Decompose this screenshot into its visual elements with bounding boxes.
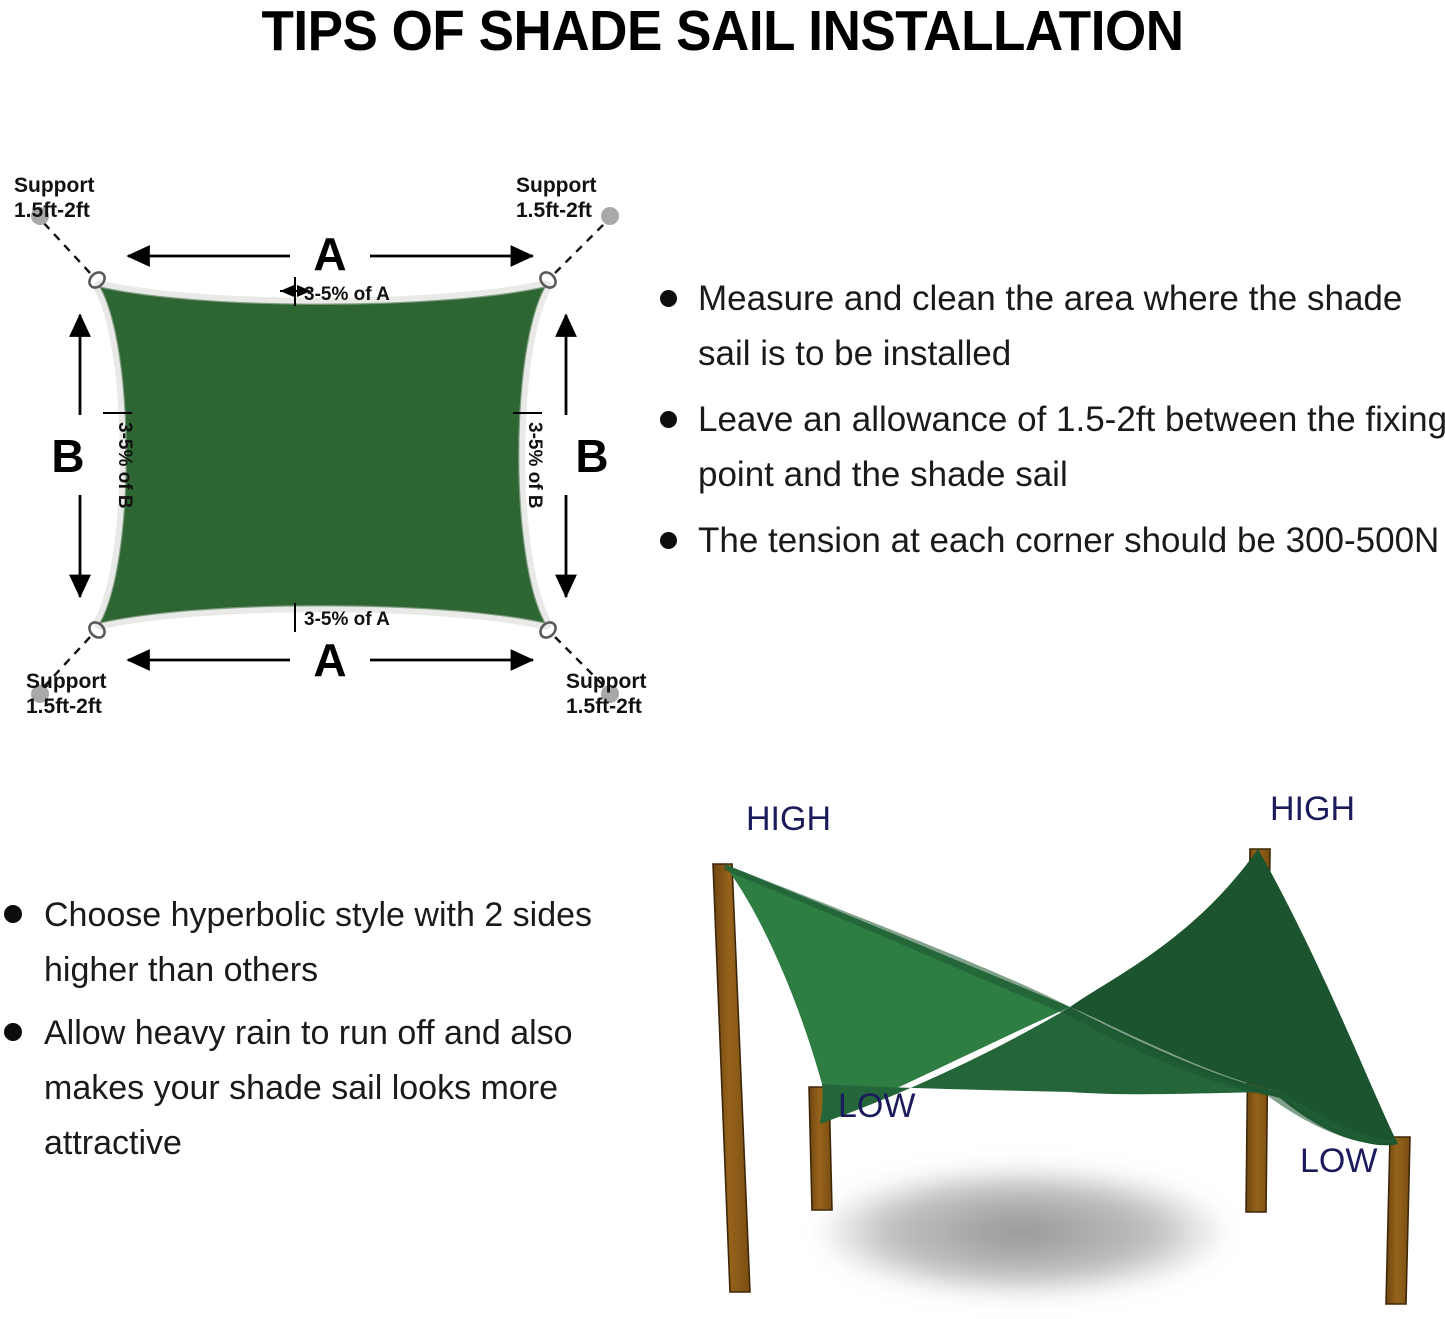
support-label-line2: 1.5ft-2ft xyxy=(26,695,102,718)
pole-low-right xyxy=(1386,1137,1410,1304)
label-high-right: HIGH xyxy=(1270,792,1355,828)
bullet-icon xyxy=(4,1023,22,1041)
list-item-text: Measure and clean the area where the sha… xyxy=(698,279,1402,373)
support-label-line1: Support xyxy=(566,670,646,693)
bullet-icon xyxy=(660,411,677,428)
tips-list: Measure and clean the area where the sha… xyxy=(650,272,1445,569)
curve-label-right: 3-5% of B xyxy=(524,422,545,509)
support-label-line1: Support xyxy=(14,174,94,197)
dimension-label-a-bottom: A xyxy=(313,634,346,686)
list-item: Allow heavy rain to run off and also mak… xyxy=(0,1006,620,1171)
list-item: Choose hyperbolic style with 2 sides hig… xyxy=(0,888,620,998)
dimension-label-b-left: B xyxy=(51,430,84,482)
list-item-text: Allow heavy rain to run off and also mak… xyxy=(44,1014,573,1162)
label-low-right: LOW xyxy=(1300,1142,1377,1180)
sail-panel-rear xyxy=(1070,849,1398,1145)
ground-shadow xyxy=(822,1168,1222,1296)
curve-label-top: 3-5% of A xyxy=(304,284,390,305)
shade-sail-shape xyxy=(100,287,545,623)
list-item: Leave an allowance of 1.5-2ft between th… xyxy=(650,393,1445,503)
support-label-top-left: Support 1.5ft-2ft xyxy=(14,174,94,222)
support-label-line2: 1.5ft-2ft xyxy=(566,695,642,718)
list-item-text: Choose hyperbolic style with 2 sides hig… xyxy=(44,896,592,989)
curve-label-bottom: 3-5% of A xyxy=(304,609,390,630)
list-item: Measure and clean the area where the sha… xyxy=(650,272,1445,382)
list-item: The tension at each corner should be 300… xyxy=(650,514,1445,569)
support-label-top-right: Support 1.5ft-2ft xyxy=(516,174,596,222)
support-label-line2: 1.5ft-2ft xyxy=(516,199,592,222)
bullet-icon xyxy=(4,905,22,923)
list-item-text: Leave an allowance of 1.5-2ft between th… xyxy=(698,400,1445,494)
support-label-line2: 1.5ft-2ft xyxy=(14,199,90,222)
label-low-left: LOW xyxy=(838,1087,915,1125)
pole-high-left xyxy=(713,864,750,1292)
bullet-icon xyxy=(660,532,677,549)
list-item-text: The tension at each corner should be 300… xyxy=(698,521,1439,560)
page-title: TIPS OF SHADE SAIL INSTALLATION xyxy=(51,0,1395,62)
label-high-left: HIGH xyxy=(746,800,831,838)
support-label-line1: Support xyxy=(516,174,596,197)
bullet-icon xyxy=(660,290,677,307)
tips-list: Choose hyperbolic style with 2 sides hig… xyxy=(0,888,620,1171)
rectangular-sail-dimension-diagram: Support 1.5ft-2ft Support 1.5ft-2ft Supp… xyxy=(0,160,680,730)
hyperbolic-sail-illustration: HIGH HIGH LOW LOW xyxy=(672,792,1445,1319)
installation-tips-list-bottom-left: Choose hyperbolic style with 2 sides hig… xyxy=(0,888,620,1179)
dimension-label-a-top: A xyxy=(313,228,346,280)
dimension-label-b-right: B xyxy=(575,430,608,482)
support-label-line1: Support xyxy=(26,670,106,693)
curve-label-left: 3-5% of B xyxy=(114,422,135,509)
installation-tips-list-right: Measure and clean the area where the sha… xyxy=(650,272,1445,580)
